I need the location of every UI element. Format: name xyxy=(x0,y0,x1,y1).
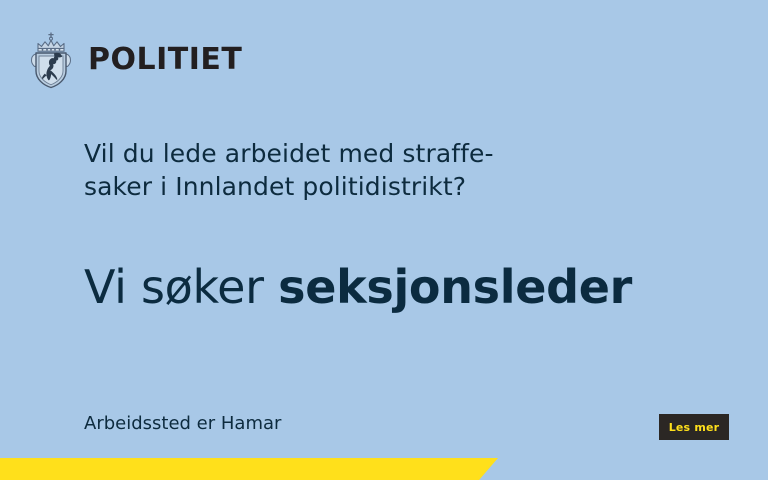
kicker-line-1: Vil du lede arbeidet med straffe- xyxy=(84,139,494,168)
read-more-button-label: Les mer xyxy=(669,422,720,433)
page-title: Vi søker seksjonsleder xyxy=(84,262,724,313)
politiet-wordmark: POLITIET xyxy=(88,45,242,75)
read-more-button[interactable]: Les mer xyxy=(659,414,729,440)
page-kicker: Vil du lede arbeidet med straffe-saker i… xyxy=(84,138,644,203)
kicker-line-2: saker i Innlandet politidistrikt? xyxy=(84,172,466,201)
norwegian-coat-of-arms-shield-icon xyxy=(26,31,76,89)
recruitment-banner: POLITIET Vil du lede arbeidet med straff… xyxy=(0,0,768,480)
headline-emphasis: seksjonsleder xyxy=(278,260,632,314)
work-location-label: Arbeidssted er Hamar xyxy=(84,413,281,435)
bottom-accent-stripe xyxy=(0,458,498,480)
brand-lockup: POLITIET xyxy=(26,31,242,89)
headline-lead: Vi søker xyxy=(84,260,278,314)
